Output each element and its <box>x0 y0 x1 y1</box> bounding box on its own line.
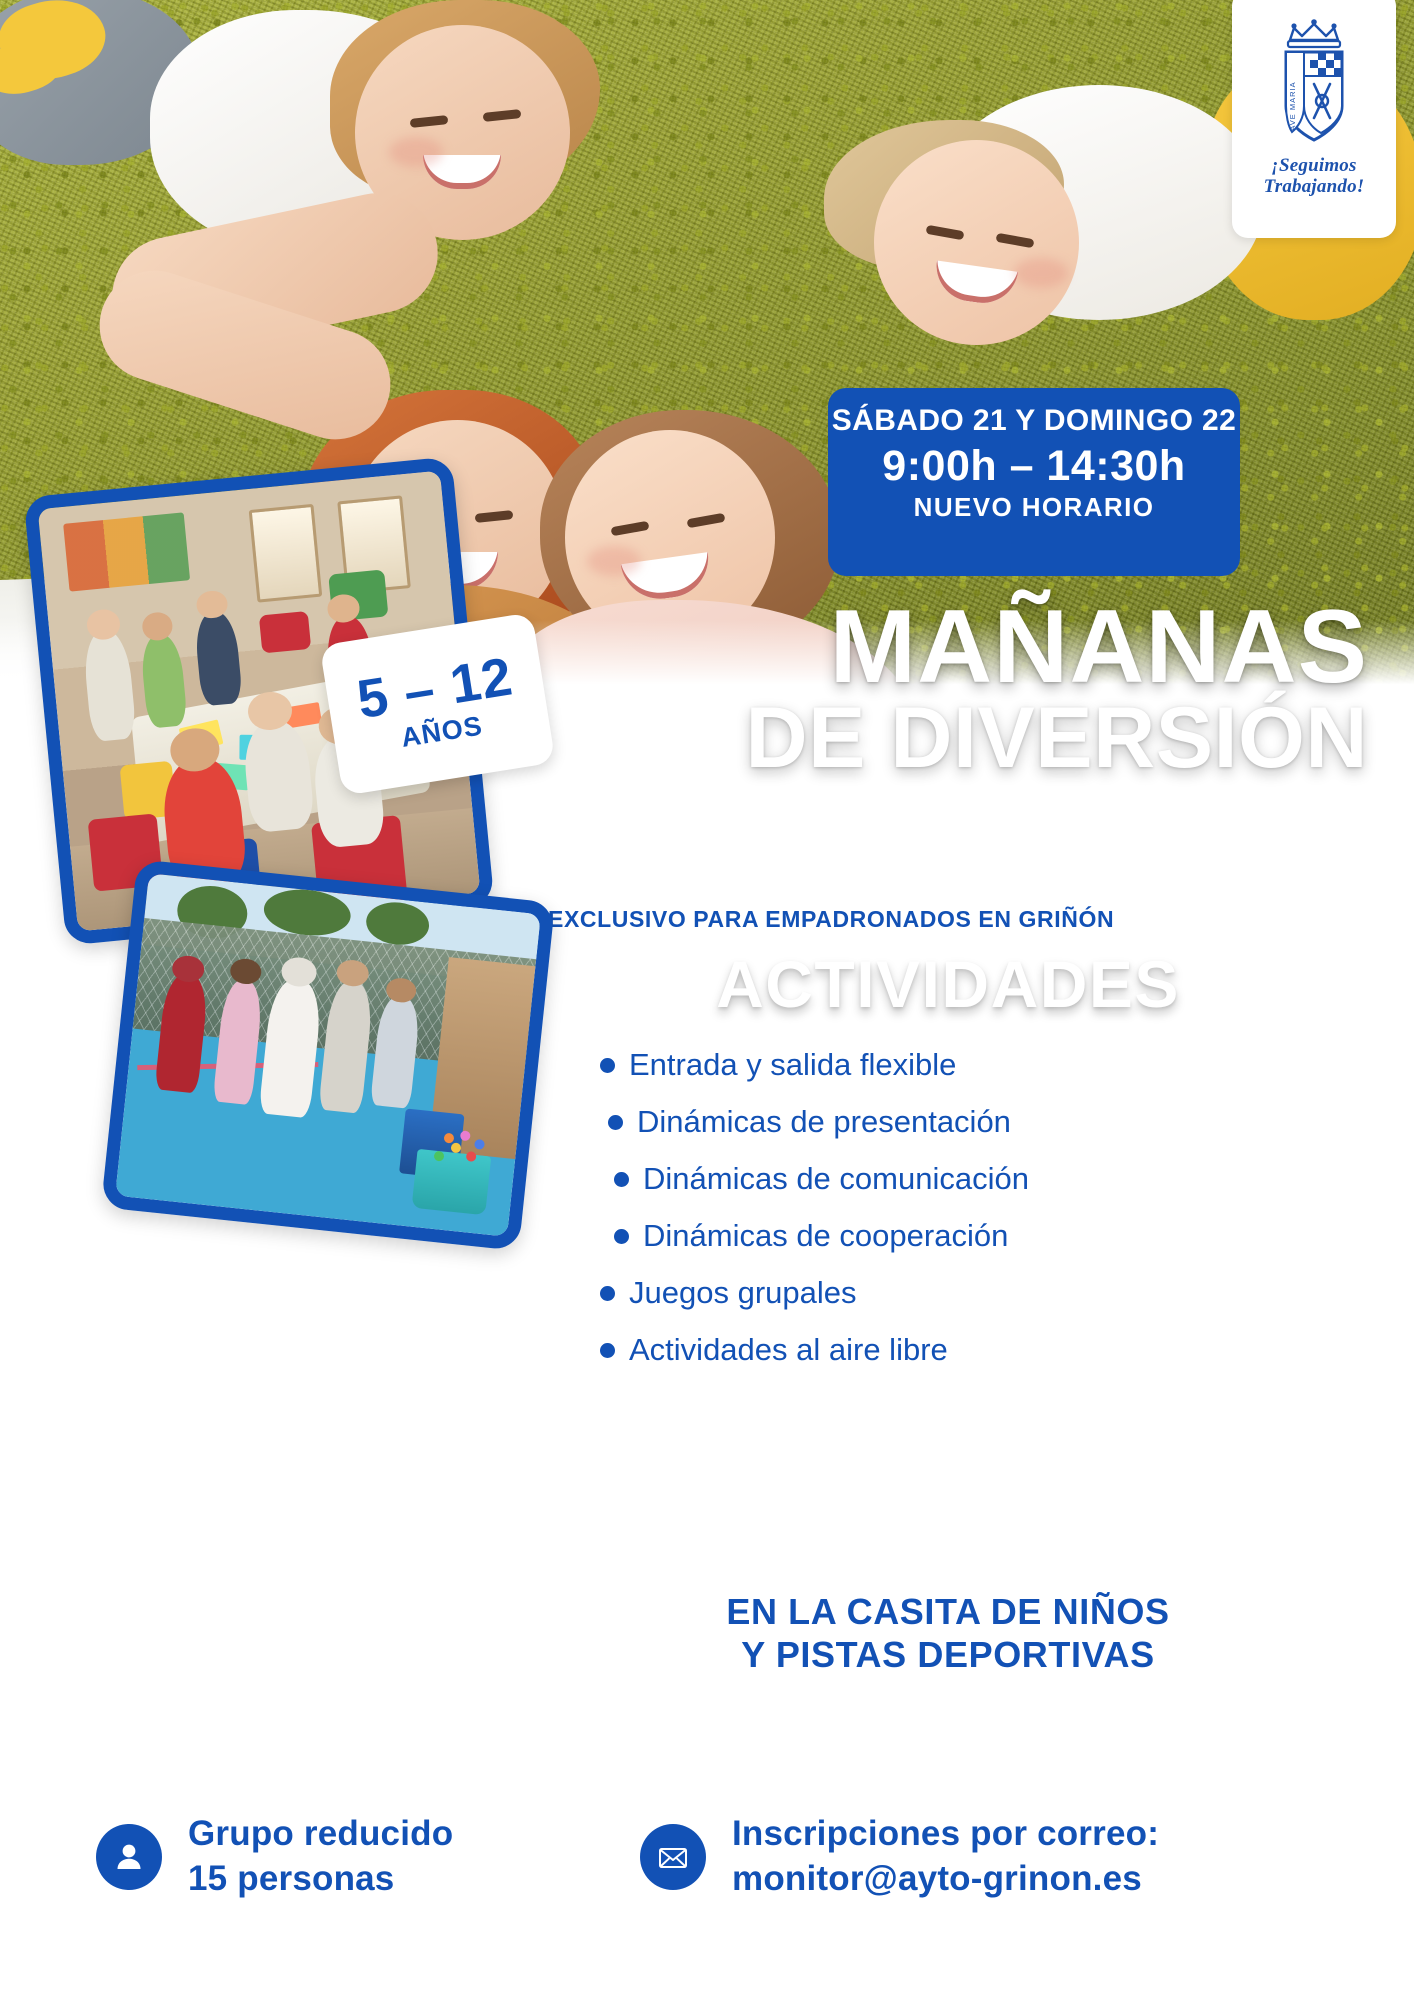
schedule-hours: 9:00h – 14:30h <box>828 443 1240 490</box>
age-range-value: 5 – 12 <box>354 649 517 727</box>
poster-title: MAÑANAS DE DIVERSIÓN <box>608 600 1368 780</box>
cyan-basket <box>411 1149 492 1215</box>
footer-group-line2: 15 personas <box>188 1857 453 1902</box>
eye-icon <box>410 115 449 128</box>
bullet-icon <box>600 1343 615 1358</box>
child-top-right-head <box>874 140 1079 345</box>
activity-label: Dinámicas de presentación <box>637 1105 1011 1139</box>
child-figure <box>82 629 137 743</box>
poster-title-line1: MAÑANAS <box>608 600 1368 696</box>
eye-icon <box>475 510 514 523</box>
footer-signup-info: Inscripciones por correo: monitor@ayto-g… <box>640 1812 1159 1902</box>
eye-icon <box>926 225 965 240</box>
list-item: Dinámicas de presentación <box>608 1105 1360 1139</box>
bullet-icon <box>600 1058 615 1073</box>
footer-group-line1: Grupo reducido <box>188 1812 453 1857</box>
wall-mat <box>259 611 311 654</box>
activity-label: Actividades al aire libre <box>629 1333 948 1367</box>
list-item: Dinámicas de cooperación <box>614 1219 1360 1253</box>
window-shape <box>249 504 322 603</box>
crest-motto-line1: ¡Seguimos <box>1264 156 1365 177</box>
eye-icon <box>996 233 1035 248</box>
bullet-icon <box>614 1229 629 1244</box>
smile-shape <box>932 260 1018 307</box>
footer-signup-email[interactable]: monitor@ayto-grinon.es <box>732 1857 1159 1902</box>
age-range-badge: 5 – 12 AÑOS <box>319 612 555 796</box>
eye-icon <box>611 521 650 536</box>
cheek-blush <box>1014 258 1068 288</box>
envelope-icon[interactable] <box>640 1824 706 1890</box>
schedule-box: SÁBADO 21 Y DOMINGO 22 9:00h – 14:30h NU… <box>828 388 1240 576</box>
eye-icon <box>483 109 522 122</box>
bullet-icon <box>614 1172 629 1187</box>
activity-label: Dinámicas de cooperación <box>643 1219 1008 1253</box>
person-icon <box>96 1824 162 1890</box>
outdoor-court-scene <box>115 873 541 1236</box>
crest-motto: ¡Seguimos Trabajando! <box>1264 156 1365 197</box>
cheek-blush <box>389 137 443 167</box>
schedule-note: NUEVO HORARIO <box>828 492 1240 523</box>
cheek-blush <box>587 546 641 576</box>
activities-list: Entrada y salida flexible Dinámicas de p… <box>600 1048 1360 1391</box>
poster-footer: Grupo reducido 15 personas Inscripciones… <box>0 1800 1414 1970</box>
ayuntamiento-crest-card: AVE MARIA ¡Seguimos Trabajando! <box>1232 0 1396 238</box>
footer-group-text: Grupo reducido 15 personas <box>188 1812 453 1902</box>
list-item: Juegos grupales <box>600 1276 1360 1310</box>
footer-signup-text: Inscripciones por correo: monitor@ayto-g… <box>732 1812 1159 1902</box>
bullet-icon <box>608 1115 623 1130</box>
eligibility-note: EXCLUSIVO PARA EMPADRONADOS EN GRIÑÓN <box>548 906 1348 933</box>
activity-label: Juegos grupales <box>629 1276 857 1310</box>
activity-label: Dinámicas de comunicación <box>643 1162 1029 1196</box>
eye-icon <box>687 513 726 528</box>
tree-shape <box>364 900 431 948</box>
svg-text:AVE MARIA: AVE MARIA <box>1288 81 1297 130</box>
activity-label: Entrada y salida flexible <box>629 1048 956 1082</box>
photo-card-outdoor-court <box>101 859 555 1251</box>
footer-group-info: Grupo reducido 15 personas <box>96 1812 453 1902</box>
bullet-icon <box>600 1286 615 1301</box>
child-figure <box>194 610 243 707</box>
wall-color-panel <box>63 512 190 591</box>
activities-heading: ACTIVIDADES <box>548 946 1348 1022</box>
list-item: Actividades al aire libre <box>600 1333 1360 1367</box>
ball <box>465 1151 476 1162</box>
schedule-days: SÁBADO 21 Y DOMINGO 22 <box>828 404 1240 439</box>
crest-motto-line2: Trabajando! <box>1264 177 1365 198</box>
venue-line2: Y PISTAS DEPORTIVAS <box>548 1633 1348 1676</box>
list-item: Dinámicas de comunicación <box>614 1162 1360 1196</box>
footer-signup-line1: Inscripciones por correo: <box>732 1812 1159 1857</box>
venue-line1: EN LA CASITA DE NIÑOS <box>548 1590 1348 1633</box>
griñon-coat-of-arms-icon: AVE MARIA <box>1260 14 1368 154</box>
venue-info: EN LA CASITA DE NIÑOS Y PISTAS DEPORTIVA… <box>548 1590 1348 1676</box>
list-item: Entrada y salida flexible <box>600 1048 1360 1082</box>
poster-title-line2: DE DIVERSIÓN <box>608 696 1368 780</box>
